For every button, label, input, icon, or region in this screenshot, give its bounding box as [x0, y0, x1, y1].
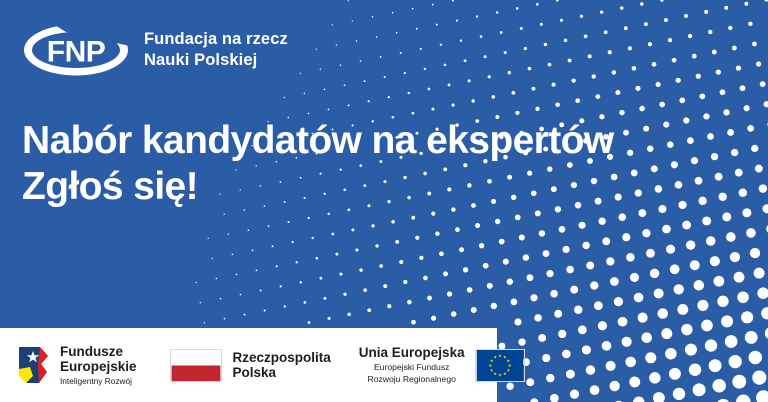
ue-text-block: Unia Europejska Europejski Fundusz Rozwo… — [359, 345, 465, 385]
rp-title: Rzeczpospolita Polska — [233, 350, 331, 381]
fe-text-block: Fundusze Europejskie Inteligentny Rozwój — [60, 344, 137, 387]
fnp-wordmark-text: Fundacja na rzecz Nauki Polskiej — [144, 29, 288, 71]
poland-flag-icon — [170, 349, 222, 382]
page-title: Nabór kandydatów na ekspertów Zgłoś się! — [22, 118, 614, 211]
fnp-promo-banner: FNP Fundacja na rzecz Nauki Polskiej Nab… — [0, 0, 768, 402]
ue-title: Unia Europejska — [359, 345, 465, 360]
fnp-logo-lockup: FNP Fundacja na rzecz Nauki Polskiej — [22, 22, 288, 78]
svg-text:FNP: FNP — [47, 36, 106, 69]
ue-subtitle: Europejski Fundusz Rozwoju Regionalnego — [359, 362, 465, 384]
fe-star-arrows-icon — [17, 345, 51, 385]
eu-funding-logo-bar: Fundusze Europejskie Inteligentny Rozwój… — [0, 328, 497, 402]
fnp-logo-icon: FNP — [22, 22, 130, 78]
funding-logo-unia-europejska: Unia Europejska Europejski Fundusz Rozwo… — [359, 345, 525, 385]
eu-flag-icon — [475, 349, 525, 382]
funding-logo-fundusze-europejskie: Fundusze Europejskie Inteligentny Rozwój — [17, 344, 137, 387]
fe-subtitle: Inteligentny Rozwój — [60, 376, 137, 386]
fe-title: Fundusze Europejskie — [60, 344, 137, 375]
funding-logo-rzeczpospolita-polska: Rzeczpospolita Polska — [170, 349, 331, 382]
